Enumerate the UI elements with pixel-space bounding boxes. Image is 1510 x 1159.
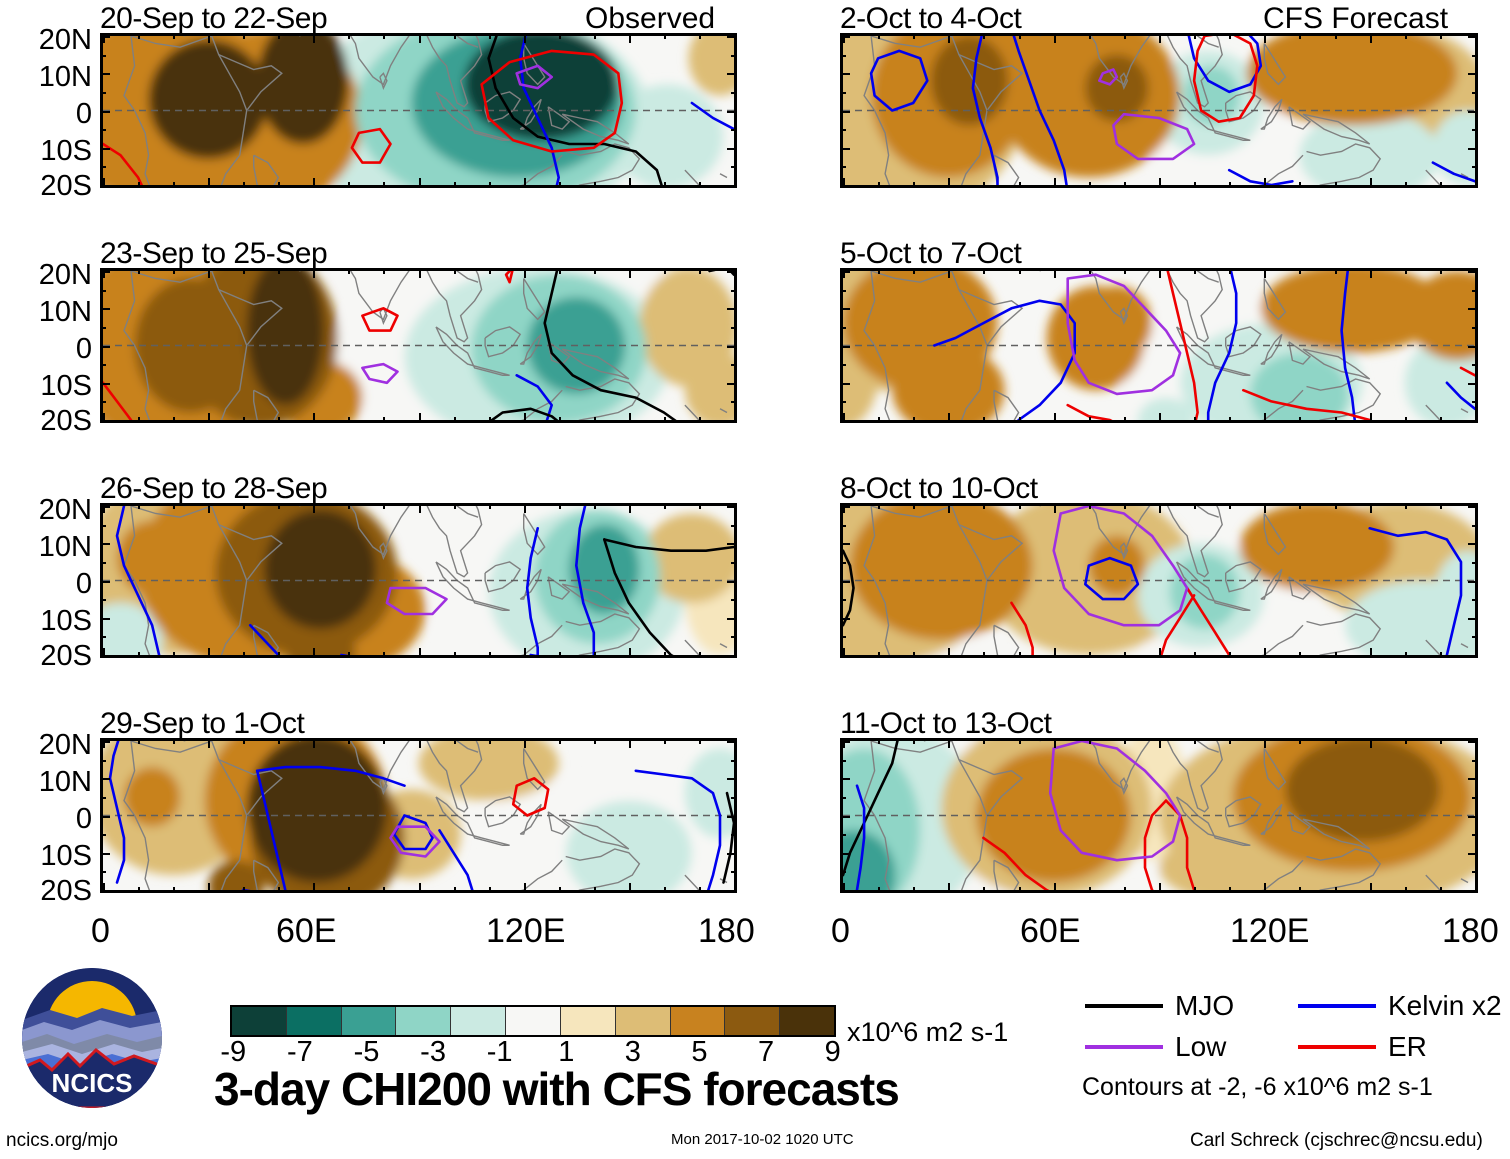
x-tick-bottom bbox=[419, 413, 421, 423]
x-tick-top bbox=[1475, 268, 1477, 278]
y-tick-left bbox=[840, 271, 850, 273]
y-tick-left bbox=[100, 778, 110, 780]
y-tick-right bbox=[1472, 871, 1478, 873]
y-tick-right bbox=[727, 36, 737, 38]
y-tick-right bbox=[731, 525, 737, 527]
x-tick-top bbox=[173, 268, 175, 274]
x-tick-bottom bbox=[1299, 417, 1301, 423]
x-tick-bottom bbox=[524, 648, 526, 658]
y-tick-right bbox=[1468, 383, 1478, 385]
x-tick-bottom bbox=[1054, 413, 1056, 423]
x-tick-bottom bbox=[1159, 883, 1161, 893]
ncics-logo-graphic: NCICS bbox=[22, 968, 162, 1108]
x-tick-top bbox=[1194, 738, 1196, 744]
x-tick-top bbox=[983, 503, 985, 509]
x-tick-bottom bbox=[1299, 182, 1301, 188]
legend-item-mjo: MJO bbox=[1085, 990, 1234, 1022]
x-tick-top bbox=[103, 268, 105, 278]
x-tick-bottom bbox=[878, 182, 880, 188]
x-tick-bottom bbox=[1124, 652, 1126, 658]
x-tick-top bbox=[1264, 33, 1266, 43]
colorbar-swatch-9 bbox=[725, 1007, 780, 1035]
x-tick-bottom bbox=[1264, 178, 1266, 188]
x-tick-top bbox=[1089, 33, 1091, 39]
legend-label: Kelvin x2 bbox=[1388, 990, 1502, 1022]
x-tick-top bbox=[1229, 33, 1231, 39]
legend-label: Low bbox=[1175, 1031, 1226, 1063]
x-tick-bottom bbox=[913, 182, 915, 188]
x-tick-bottom bbox=[559, 652, 561, 658]
y-tick-right bbox=[1468, 618, 1478, 620]
x-tick-top bbox=[699, 503, 701, 509]
y-tick-left bbox=[840, 55, 846, 57]
x-tick-bottom bbox=[1159, 648, 1161, 658]
x-tick-top bbox=[594, 268, 596, 274]
x-tick-bottom bbox=[699, 182, 701, 188]
x-tick-top bbox=[454, 33, 456, 39]
y-tick-left bbox=[100, 655, 110, 657]
x-tick-top bbox=[1264, 268, 1266, 278]
x-tick-bottom bbox=[524, 178, 526, 188]
x-tick-bottom bbox=[878, 652, 880, 658]
y-tick-left bbox=[840, 420, 850, 422]
y-tick-left bbox=[100, 581, 110, 583]
y-tick-right bbox=[731, 166, 737, 168]
y-tick-left bbox=[100, 834, 106, 836]
x-tick-bottom bbox=[1370, 178, 1372, 188]
x-tick-bottom bbox=[1440, 887, 1442, 893]
y-tick-left bbox=[100, 525, 106, 527]
x-tick-bottom bbox=[948, 648, 950, 658]
x-tick-bottom bbox=[243, 182, 245, 188]
y-tick-left bbox=[840, 581, 850, 583]
x-tick-top bbox=[878, 738, 880, 744]
x-tick-bottom bbox=[1229, 652, 1231, 658]
map-panel-obs-1[interactable] bbox=[100, 33, 737, 188]
y-tick-left bbox=[840, 890, 850, 892]
y-tick-right bbox=[1468, 543, 1478, 545]
x-tick-top bbox=[1159, 503, 1161, 513]
x-tick-top bbox=[419, 33, 421, 43]
x-tick-bottom bbox=[348, 182, 350, 188]
y-tick-left bbox=[100, 185, 110, 187]
x-tick-top bbox=[489, 503, 491, 509]
y-tick-right bbox=[1472, 129, 1478, 131]
x-tick-top bbox=[734, 33, 736, 43]
y-tick-right bbox=[727, 778, 737, 780]
y-tick-left bbox=[840, 853, 850, 855]
x-tick-bottom bbox=[629, 648, 631, 658]
x-tick-bottom bbox=[1264, 883, 1266, 893]
x-tick-top bbox=[1124, 503, 1126, 509]
y-tick-right bbox=[1472, 55, 1478, 57]
y-tick-right bbox=[1472, 834, 1478, 836]
x-tick-bottom bbox=[489, 887, 491, 893]
x-tick-bottom bbox=[983, 182, 985, 188]
x-tick-top bbox=[138, 268, 140, 274]
y-tick-left bbox=[840, 73, 850, 75]
x-tick-top bbox=[664, 33, 666, 39]
legend-line-mjo bbox=[1085, 1004, 1163, 1008]
x-tick-top bbox=[1264, 503, 1266, 513]
x-tick-top bbox=[1299, 33, 1301, 39]
x-tick-top bbox=[1054, 33, 1056, 43]
y-tick-left bbox=[100, 562, 106, 564]
x-tick-bottom bbox=[1405, 887, 1407, 893]
x-tick-top bbox=[1019, 738, 1021, 744]
x-tick-top bbox=[1159, 33, 1161, 43]
x-tick-top bbox=[1475, 503, 1477, 513]
y-tick-right bbox=[1472, 760, 1478, 762]
y-tick-left bbox=[100, 543, 110, 545]
x-tick-bottom bbox=[699, 887, 701, 893]
y-tick-right bbox=[1472, 636, 1478, 638]
x-tick-top bbox=[1335, 738, 1337, 744]
x-tick-top bbox=[348, 268, 350, 274]
x-tick-bottom bbox=[1194, 652, 1196, 658]
x-tick-top bbox=[913, 33, 915, 39]
x-tick-top bbox=[699, 268, 701, 274]
x-tick-bottom bbox=[489, 652, 491, 658]
x-tick-top bbox=[278, 33, 280, 39]
y-tick-right bbox=[1468, 816, 1478, 818]
map-panel-fcst-3[interactable] bbox=[840, 503, 1478, 658]
x-tick-top bbox=[1089, 503, 1091, 509]
x-tick-top bbox=[1089, 738, 1091, 744]
x-tick-top bbox=[913, 738, 915, 744]
x-tick-top bbox=[1194, 268, 1196, 274]
x-tick-bottom bbox=[173, 417, 175, 423]
y-tick-right bbox=[727, 346, 737, 348]
x-tick-bottom bbox=[383, 182, 385, 188]
y-tick-left bbox=[100, 129, 106, 131]
x-tick-top bbox=[243, 268, 245, 274]
x-tick-top bbox=[454, 268, 456, 274]
y-tick-left bbox=[100, 599, 106, 601]
y-tick-right bbox=[727, 185, 737, 187]
y-tick-left bbox=[840, 741, 850, 743]
x-tick-bottom bbox=[1159, 178, 1161, 188]
x-tick-top bbox=[983, 738, 985, 744]
y-tick-right bbox=[727, 383, 737, 385]
y-tick-right bbox=[1472, 401, 1478, 403]
y-tick-left bbox=[840, 834, 846, 836]
y-ticklabel: 10S bbox=[0, 372, 92, 401]
y-tick-left bbox=[100, 853, 110, 855]
x-tick-bottom bbox=[1229, 887, 1231, 893]
y-tick-left bbox=[840, 401, 846, 403]
x-tick-top bbox=[138, 738, 140, 744]
map-panel-obs-2[interactable] bbox=[100, 268, 737, 423]
y-tick-left bbox=[840, 92, 846, 94]
map-panel-fcst-1[interactable] bbox=[840, 33, 1478, 188]
x-tick-top bbox=[524, 503, 526, 513]
x-tick-top bbox=[1194, 503, 1196, 509]
x-tick-top bbox=[629, 738, 631, 748]
legend-item-low: Low bbox=[1085, 1031, 1226, 1063]
y-tick-right bbox=[1468, 420, 1478, 422]
y-ticklabel: 10S bbox=[0, 842, 92, 871]
y-ticklabel: 20S bbox=[0, 172, 92, 201]
y-tick-right bbox=[727, 420, 737, 422]
ncics-logo: NCICS bbox=[22, 968, 162, 1108]
y-tick-right bbox=[731, 401, 737, 403]
y-tick-right bbox=[727, 618, 737, 620]
x-tick-top bbox=[243, 33, 245, 39]
colorbar-unit-label: x10^6 m2 s-1 bbox=[847, 1017, 1008, 1048]
y-tick-left bbox=[100, 890, 110, 892]
x-tick-top bbox=[843, 268, 845, 278]
x-tick-top bbox=[1370, 33, 1372, 43]
x-tick-bottom bbox=[1089, 652, 1091, 658]
y-tick-right bbox=[1468, 778, 1478, 780]
x-tick-bottom bbox=[1299, 652, 1301, 658]
x-tick-top bbox=[1440, 33, 1442, 39]
y-tick-left bbox=[100, 92, 106, 94]
x-tick-bottom bbox=[278, 887, 280, 893]
x-tick-top bbox=[559, 268, 561, 274]
x-tick-bottom bbox=[948, 883, 950, 893]
x-tick-bottom bbox=[699, 417, 701, 423]
x-tick-bottom bbox=[138, 887, 140, 893]
x-tick-top bbox=[1229, 268, 1231, 274]
x-tick-bottom bbox=[1229, 182, 1231, 188]
x-tick-top bbox=[138, 33, 140, 39]
y-ticklabel: 10S bbox=[0, 137, 92, 166]
panel-title: 11-Oct to 13-Oct bbox=[840, 707, 1052, 741]
x-tick-top bbox=[1054, 738, 1056, 748]
x-tick-top bbox=[734, 503, 736, 513]
y-ticklabel: 10N bbox=[0, 63, 92, 92]
column-header-forecast: CFS Forecast bbox=[1263, 2, 1448, 36]
x-tick-bottom bbox=[629, 883, 631, 893]
map-field-obs-2 bbox=[103, 271, 734, 420]
y-tick-right bbox=[1472, 562, 1478, 564]
map-field-obs-3 bbox=[103, 506, 734, 655]
x-tick-bottom bbox=[1124, 182, 1126, 188]
x-tick-top bbox=[383, 33, 385, 39]
y-tick-right bbox=[731, 290, 737, 292]
contour-levels-note: Contours at -2, -6 x10^6 m2 s-1 bbox=[1082, 1073, 1433, 1102]
y-tick-left bbox=[100, 383, 110, 385]
y-tick-left bbox=[840, 543, 850, 545]
y-tick-right bbox=[727, 816, 737, 818]
x-tick-top bbox=[419, 503, 421, 513]
x-tick-bottom bbox=[383, 652, 385, 658]
x-tick-top bbox=[1019, 503, 1021, 509]
x-tick-bottom bbox=[1440, 417, 1442, 423]
y-tick-left bbox=[840, 129, 846, 131]
y-ticklabel: 20S bbox=[0, 642, 92, 671]
y-tick-left bbox=[840, 655, 850, 657]
x-tick-top bbox=[1019, 268, 1021, 274]
colorbar-swatch-4 bbox=[451, 1007, 506, 1035]
x-tick-bottom bbox=[208, 413, 210, 423]
x-tick-top bbox=[103, 33, 105, 43]
x-tick-bottom bbox=[1089, 887, 1091, 893]
x-tick-bottom bbox=[489, 182, 491, 188]
x-ticklabel: 180 bbox=[1442, 912, 1499, 951]
y-ticklabel: 20N bbox=[0, 26, 92, 55]
x-tick-bottom bbox=[983, 652, 985, 658]
x-tick-top bbox=[1299, 503, 1301, 509]
x-tick-bottom bbox=[1405, 182, 1407, 188]
x-tick-top bbox=[594, 738, 596, 744]
y-tick-left bbox=[100, 166, 106, 168]
x-tick-bottom bbox=[173, 652, 175, 658]
x-tick-bottom bbox=[559, 887, 561, 893]
x-tick-bottom bbox=[383, 417, 385, 423]
x-tick-top bbox=[948, 503, 950, 513]
x-tick-bottom bbox=[594, 182, 596, 188]
colorbar-swatch-0 bbox=[232, 1007, 287, 1035]
x-tick-bottom bbox=[454, 182, 456, 188]
x-tick-top bbox=[699, 33, 701, 39]
footer-site-link[interactable]: ncics.org/mjo bbox=[6, 1130, 118, 1152]
x-tick-bottom bbox=[313, 883, 315, 893]
x-tick-bottom bbox=[1089, 417, 1091, 423]
y-tick-right bbox=[1468, 73, 1478, 75]
legend-line-low bbox=[1085, 1045, 1163, 1049]
x-tick-top bbox=[1475, 738, 1477, 748]
x-tick-bottom bbox=[1405, 417, 1407, 423]
x-tick-top bbox=[1475, 33, 1477, 43]
x-tick-top bbox=[1054, 503, 1056, 513]
map-field-fcst-3 bbox=[843, 506, 1475, 655]
x-tick-top bbox=[948, 268, 950, 278]
x-tick-top bbox=[948, 738, 950, 748]
x-tick-top bbox=[243, 738, 245, 744]
x-tick-bottom bbox=[1194, 417, 1196, 423]
y-tick-right bbox=[731, 760, 737, 762]
y-tick-right bbox=[731, 55, 737, 57]
x-tick-bottom bbox=[664, 417, 666, 423]
x-tick-bottom bbox=[138, 417, 140, 423]
colorbar-swatch-3 bbox=[396, 1007, 451, 1035]
y-tick-right bbox=[727, 853, 737, 855]
y-tick-right bbox=[727, 543, 737, 545]
y-tick-left bbox=[100, 290, 106, 292]
y-tick-left bbox=[840, 111, 850, 113]
x-ticklabel: 0 bbox=[831, 912, 850, 951]
y-tick-right bbox=[1468, 853, 1478, 855]
y-tick-right bbox=[727, 73, 737, 75]
x-tick-bottom bbox=[699, 652, 701, 658]
y-tick-right bbox=[731, 129, 737, 131]
x-tick-top bbox=[1405, 268, 1407, 274]
y-tick-right bbox=[1472, 525, 1478, 527]
map-panel-fcst-2[interactable] bbox=[840, 268, 1478, 423]
y-tick-left bbox=[840, 525, 846, 527]
x-tick-top bbox=[419, 268, 421, 278]
x-tick-bottom bbox=[629, 413, 631, 423]
x-tick-bottom bbox=[208, 178, 210, 188]
x-tick-bottom bbox=[419, 648, 421, 658]
x-tick-bottom bbox=[664, 182, 666, 188]
x-tick-top bbox=[664, 503, 666, 509]
legend-item-kelvin: Kelvin x2 bbox=[1298, 990, 1502, 1022]
y-tick-left bbox=[840, 599, 846, 601]
y-tick-left bbox=[840, 618, 850, 620]
y-tick-left bbox=[100, 636, 106, 638]
x-tick-bottom bbox=[1264, 413, 1266, 423]
map-panel-obs-4[interactable] bbox=[100, 738, 737, 893]
x-tick-top bbox=[313, 503, 315, 513]
x-tick-bottom bbox=[664, 652, 666, 658]
footer-timestamp: Mon 2017-10-02 1020 UTC bbox=[671, 1131, 854, 1148]
map-panel-fcst-4[interactable] bbox=[840, 738, 1478, 893]
x-tick-bottom bbox=[1370, 648, 1372, 658]
x-tick-bottom bbox=[419, 883, 421, 893]
y-tick-left bbox=[840, 816, 850, 818]
x-tick-top bbox=[1370, 268, 1372, 278]
footer-author: Carl Schreck (cjschrec@ncsu.edu) bbox=[1190, 1130, 1483, 1152]
y-tick-left bbox=[100, 73, 110, 75]
x-tick-bottom bbox=[559, 417, 561, 423]
x-ticklabel: 120E bbox=[486, 912, 565, 951]
y-tick-right bbox=[731, 327, 737, 329]
x-tick-top bbox=[278, 738, 280, 744]
x-tick-bottom bbox=[1370, 413, 1372, 423]
x-tick-bottom bbox=[208, 883, 210, 893]
panel-title: 26-Sep to 28-Sep bbox=[100, 472, 327, 506]
x-tick-bottom bbox=[1299, 887, 1301, 893]
y-tick-right bbox=[1468, 148, 1478, 150]
panel-title: 2-Oct to 4-Oct bbox=[840, 2, 1021, 36]
y-tick-left bbox=[100, 346, 110, 348]
x-tick-top bbox=[913, 268, 915, 274]
x-tick-bottom bbox=[1264, 648, 1266, 658]
y-ticklabel: 0 bbox=[0, 805, 92, 834]
y-tick-right bbox=[727, 506, 737, 508]
y-tick-left bbox=[840, 797, 846, 799]
x-tick-bottom bbox=[1405, 652, 1407, 658]
x-tick-bottom bbox=[594, 417, 596, 423]
x-tick-top bbox=[1054, 268, 1056, 278]
map-panel-obs-3[interactable] bbox=[100, 503, 737, 658]
x-tick-top bbox=[454, 503, 456, 509]
x-tick-top bbox=[524, 738, 526, 748]
y-tick-right bbox=[727, 148, 737, 150]
y-tick-right bbox=[731, 797, 737, 799]
x-tick-bottom bbox=[1019, 417, 1021, 423]
x-tick-top bbox=[699, 738, 701, 744]
x-tick-top bbox=[1159, 738, 1161, 748]
map-field-obs-4 bbox=[103, 741, 734, 890]
x-tick-bottom bbox=[1019, 652, 1021, 658]
y-tick-right bbox=[1468, 655, 1478, 657]
y-tick-left bbox=[100, 148, 110, 150]
y-ticklabel: 20N bbox=[0, 731, 92, 760]
x-tick-top bbox=[1159, 268, 1161, 278]
colorbar-swatch-7 bbox=[616, 1007, 671, 1035]
x-tick-top bbox=[983, 268, 985, 274]
x-tick-top bbox=[208, 33, 210, 43]
map-field-fcst-4 bbox=[843, 741, 1475, 890]
y-tick-left bbox=[100, 797, 106, 799]
x-tick-top bbox=[1440, 738, 1442, 744]
y-tick-right bbox=[1472, 290, 1478, 292]
x-tick-bottom bbox=[1019, 887, 1021, 893]
x-tick-bottom bbox=[208, 648, 210, 658]
y-tick-right bbox=[731, 92, 737, 94]
x-tick-top bbox=[734, 268, 736, 278]
y-tick-left bbox=[840, 636, 846, 638]
x-tick-bottom bbox=[454, 887, 456, 893]
x-tick-bottom bbox=[138, 182, 140, 188]
x-tick-top bbox=[348, 738, 350, 744]
y-tick-right bbox=[1468, 308, 1478, 310]
